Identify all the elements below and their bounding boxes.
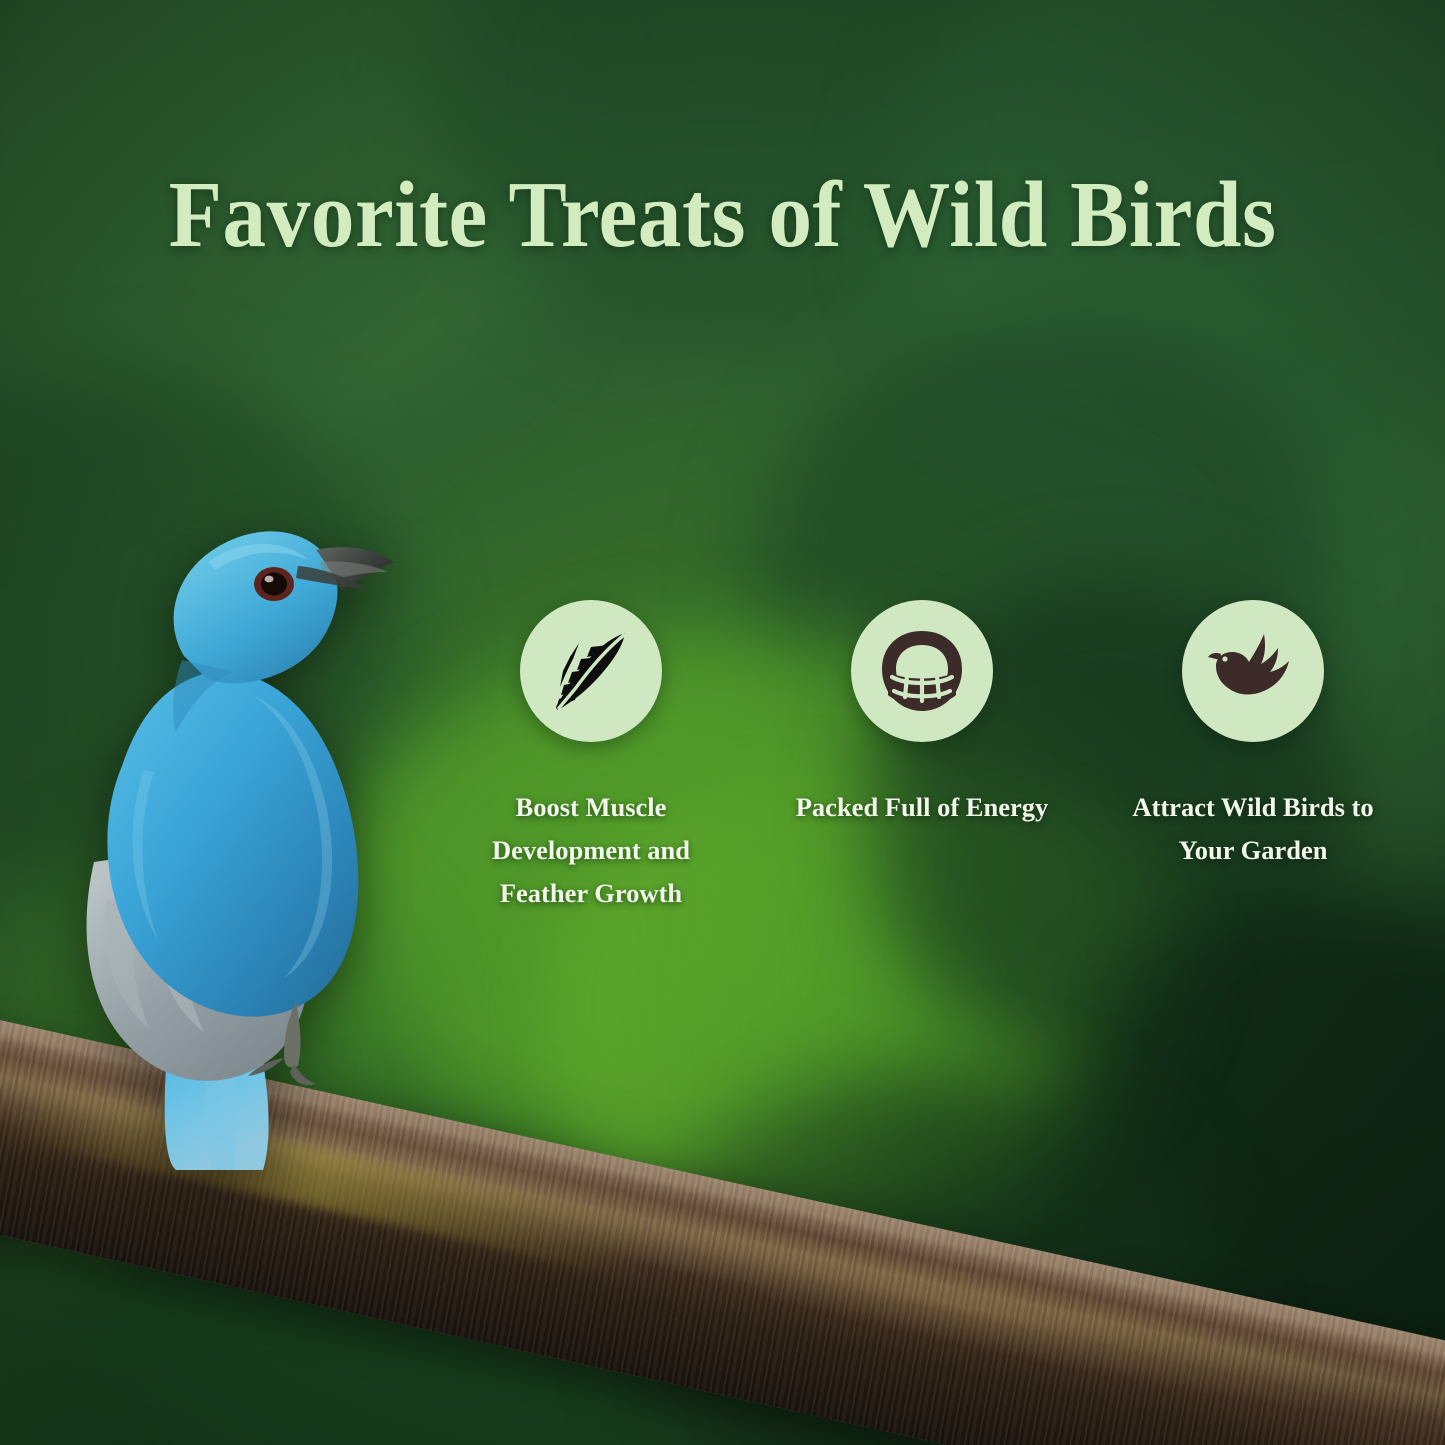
feature-item-feather[interactable]: Boost Muscle Development and Feather Gro…: [452, 600, 730, 915]
feather-badge: [520, 600, 662, 742]
flying-bird-badge: [1182, 600, 1324, 742]
promo-banner: Favorite Treats of Wild Birds: [0, 0, 1445, 1445]
feature-item-bird[interactable]: Attract Wild Birds to Your Garden: [1114, 600, 1392, 872]
feature-row: Boost Muscle Development and Feather Gro…: [452, 600, 1392, 915]
nest-icon: [876, 625, 968, 717]
feature-item-nest[interactable]: Packed Full of Energy: [783, 600, 1061, 829]
feature-caption: Boost Muscle Development and Feather Gro…: [452, 786, 730, 915]
feature-caption: Packed Full of Energy: [796, 786, 1048, 829]
blue-bird-photo: [58, 470, 418, 1170]
flying-bird-icon: [1206, 624, 1300, 718]
feature-caption: Attract Wild Birds to Your Garden: [1114, 786, 1392, 872]
page-title: Favorite Treats of Wild Birds: [51, 168, 1395, 262]
feather-icon: [543, 623, 639, 719]
nest-badge: [851, 600, 993, 742]
